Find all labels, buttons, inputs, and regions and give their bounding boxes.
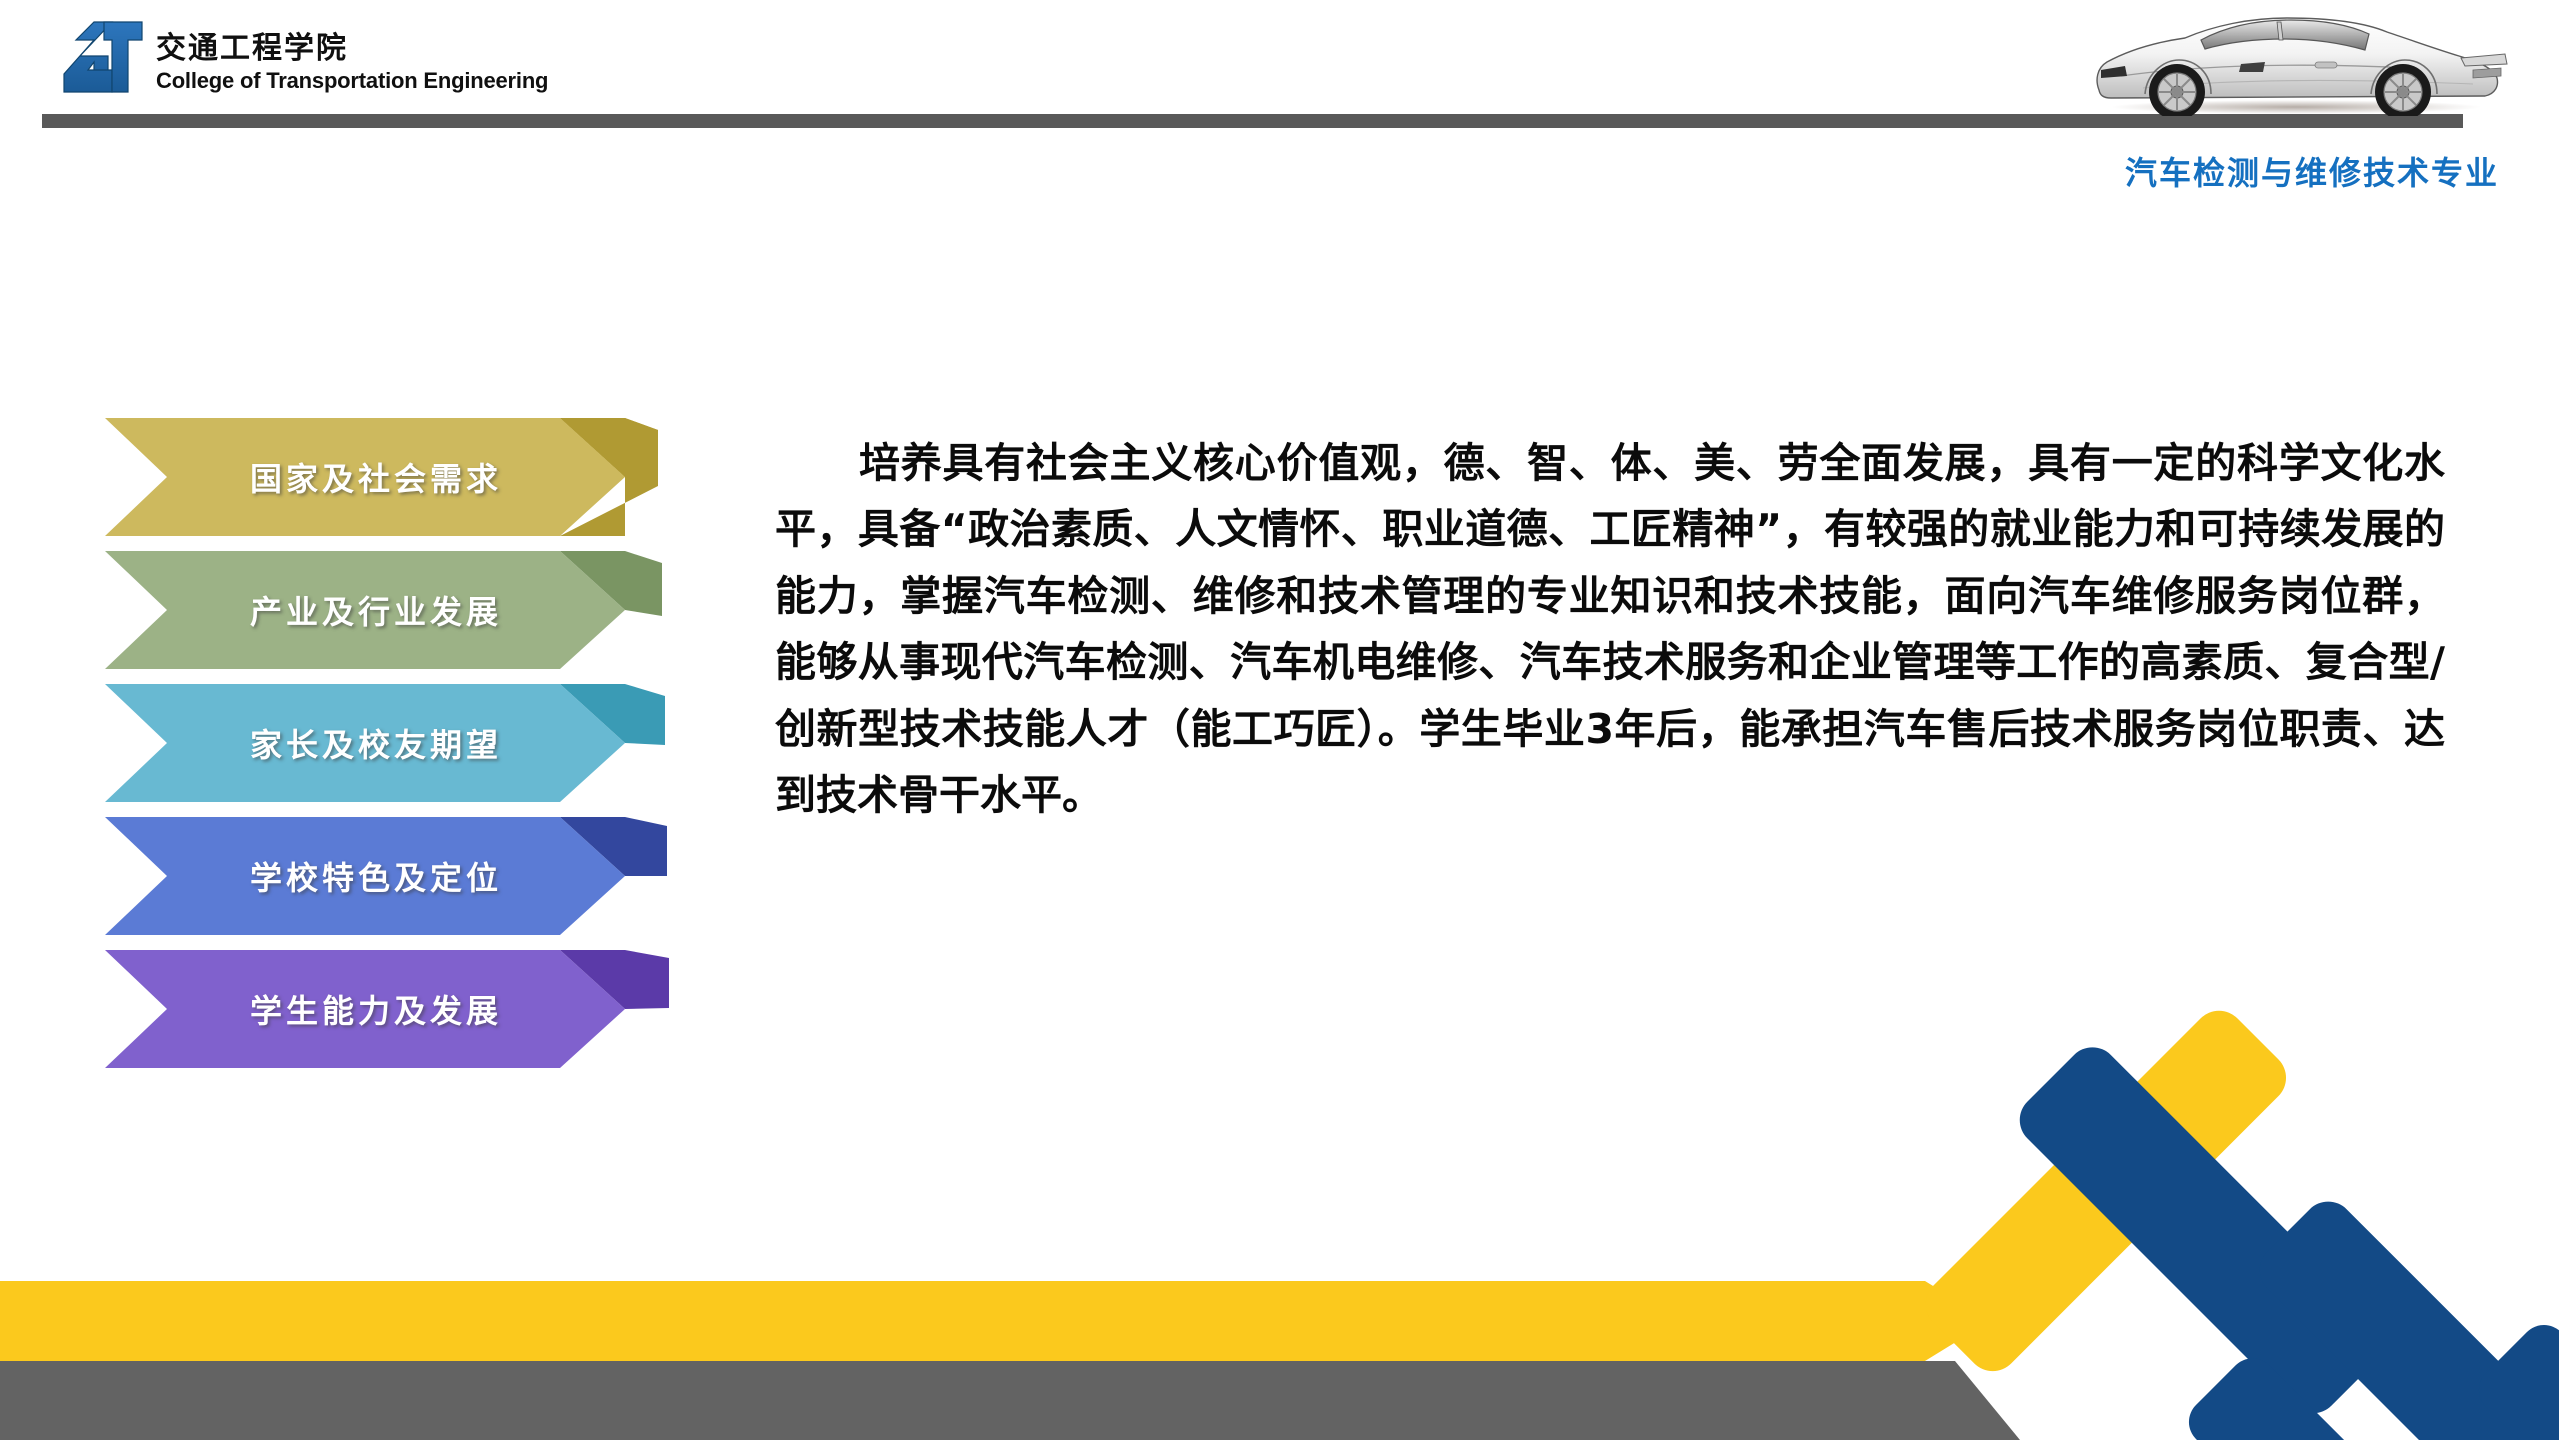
chevron-face-5[interactable]: 学生能力及发展 [105, 950, 625, 1068]
college-logo: 交通工程学院 College of Transportation Enginee… [60, 18, 548, 96]
chevron-face-3[interactable]: 家长及校友期望 [105, 684, 625, 802]
chevron-label-1: 国家及社会需求 [228, 454, 502, 500]
college-name-en: College of Transportation Engineering [156, 68, 548, 94]
chevron-face-2[interactable]: 产业及行业发展 [105, 551, 625, 669]
chevron-stack: 国家及社会需求 产业及行业发展 家长及校友期望 学校特色及定位 学生能力及发展 [105, 418, 785, 1078]
bottom-gray-band [0, 1361, 2020, 1440]
decorative-chevron-group [1879, 970, 2559, 1440]
college-name-cn: 交通工程学院 [156, 32, 548, 66]
header-divider-bar [42, 114, 2047, 128]
chevron-label-2: 产业及行业发展 [228, 587, 502, 633]
chevron-label-5: 学生能力及发展 [228, 986, 502, 1032]
gt-monogram-logo-icon [60, 18, 146, 96]
chevron-label-4: 学校特色及定位 [228, 853, 502, 899]
slide-header: 交通工程学院 College of Transportation Enginee… [0, 0, 2559, 130]
bottom-yellow-band [0, 1281, 1990, 1361]
page-title: 汽车检测与维修技术专业 [2125, 148, 2499, 194]
main-paragraph: 培养具有社会主义核心价值观，德、智、体、美、劳全面发展，具有一定的科学文化水平，… [775, 430, 2445, 828]
college-logo-text: 交通工程学院 College of Transportation Enginee… [156, 32, 548, 96]
chevron-face-4[interactable]: 学校特色及定位 [105, 817, 625, 935]
header-divider-bar-right [2047, 114, 2463, 128]
chevron-label-3: 家长及校友期望 [228, 720, 502, 766]
chevron-face-1[interactable]: 国家及社会需求 [105, 418, 625, 536]
sports-car-illustration-icon [2081, 6, 2511, 116]
